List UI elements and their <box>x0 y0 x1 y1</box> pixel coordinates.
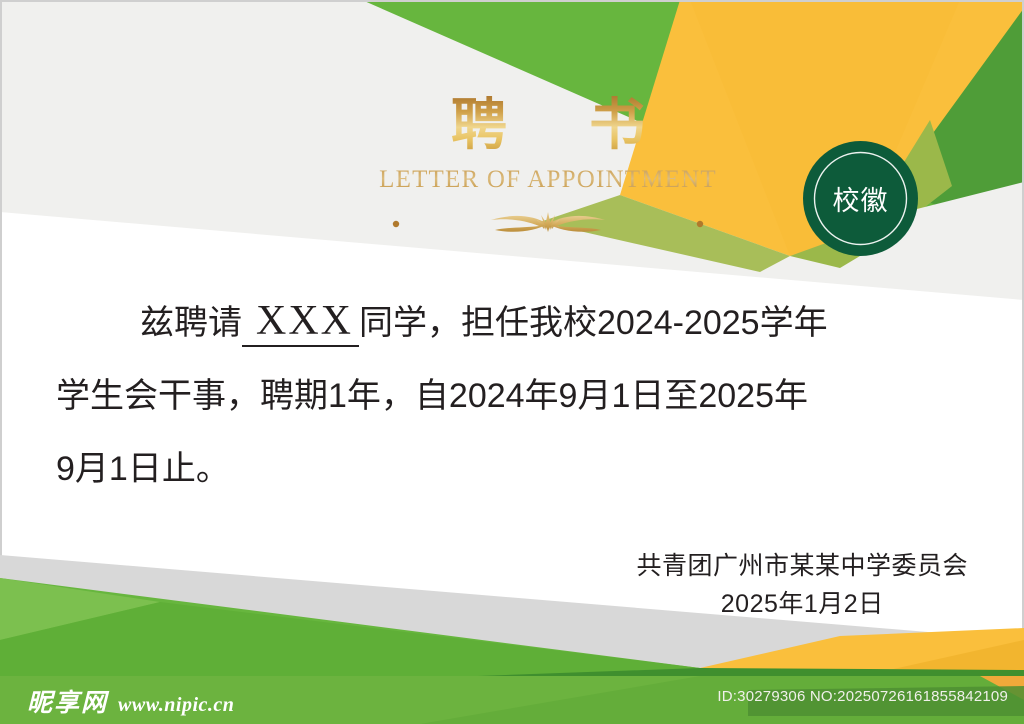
appointee-name-blank[interactable]: XXX <box>242 297 359 347</box>
asset-id-text: ID:30279306 NO:20250726161855842109 <box>717 688 1008 705</box>
body-line-1: 兹聘请XXX同学，担任我校2024-2025学年 <box>56 287 968 360</box>
certificate-body: 兹聘请XXX同学，担任我校2024-2025学年 学生会干事，聘期1年，自202… <box>56 287 968 506</box>
seal-label: 校徽 <box>799 137 922 260</box>
border-top-hairline <box>0 0 1024 2</box>
school-emblem-seal[interactable]: 校徽 <box>799 137 922 260</box>
issue-date: 2025年1月2日 <box>636 587 968 621</box>
body-line1-prefix: 兹聘请 <box>140 304 242 342</box>
signature-block: 共青团广州市某某中学委员会 2025年1月2日 <box>636 549 968 621</box>
watermark-footer: 昵享网 www.nipic.cn ID:30279306 NO:20250726… <box>0 676 1024 724</box>
body-line1-suffix: 同学，担任我校2024-2025学年 <box>359 304 828 342</box>
body-line-2: 学生会干事，聘期1年，自2024年9月1日至2025年 <box>56 360 968 433</box>
brand-url[interactable]: www.nipic.cn <box>118 694 234 717</box>
certificate-page: 聘 书 LETTER OF APPOINTMENT <box>0 0 1024 724</box>
brand-name-cn: 昵享网 <box>27 683 108 719</box>
issuing-organization: 共青团广州市某某中学委员会 <box>636 549 968 583</box>
body-line-3: 9月1日止。 <box>56 433 968 506</box>
brand-logo[interactable]: 昵享网 www.nipic.cn <box>27 683 234 719</box>
